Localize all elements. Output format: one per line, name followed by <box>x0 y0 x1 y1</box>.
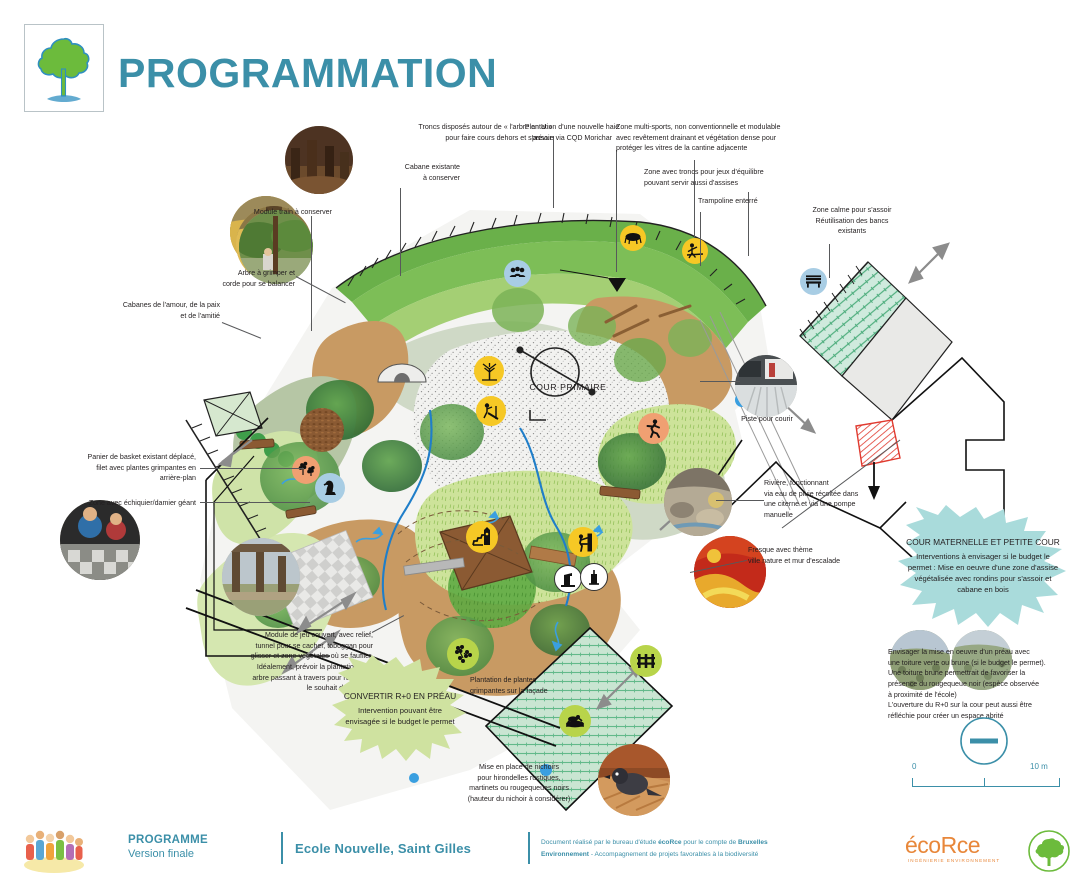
scale-bar-tick <box>984 778 985 786</box>
annotation-fresque: Fresque avec thème ville nature et mur d… <box>748 545 898 566</box>
leader-trampoline <box>700 212 701 266</box>
bench-icon <box>804 272 823 291</box>
photo-river <box>664 468 732 536</box>
marker-trampoline-icon[interactable] <box>620 225 646 251</box>
page-title: PROGRAMMATION <box>118 50 497 97</box>
footer-note-1d: Bruxelles <box>738 839 768 846</box>
footer-divider-1 <box>281 832 283 864</box>
blob-text-convertir: CONVERTIR R+0 EN PRÉAU Intervention pouv… <box>332 655 468 763</box>
annotation-nichoirs: Mise en place de nichoirs pour hirondell… <box>434 762 604 805</box>
scale-bar-line <box>912 778 1060 787</box>
scale-max-label: 10 m <box>1030 762 1048 771</box>
slide-icon <box>481 401 502 422</box>
marker-balance-icon[interactable] <box>682 238 708 264</box>
page-header: PROGRAMMATION <box>0 0 1084 118</box>
marker-play-module-icon[interactable] <box>466 521 498 553</box>
leader-riviere <box>716 500 764 501</box>
footer-programme: PROGRAMME Version finale <box>128 834 208 860</box>
annotation-troncs-equilibre: Zone avec troncs pour jeux d'équilibre p… <box>644 167 822 188</box>
trampoline-icon <box>624 229 642 247</box>
scale-min-label: 0 <box>912 762 916 771</box>
footer-note-1b: écoRce <box>658 839 681 846</box>
footer-note-2b: - Accompagnement de projets favorables à… <box>589 851 758 858</box>
tree-climb-icon <box>479 361 500 382</box>
marker-chess-icon[interactable] <box>315 473 345 503</box>
flowers-icon <box>296 460 316 480</box>
play-module-icon <box>471 526 494 549</box>
seating-group-icon <box>508 264 527 283</box>
annotation-plantes-grimpantes: Plantation de plantes grimpantes sur la … <box>470 675 598 696</box>
annotation-module-train: Module train à conserver <box>210 207 332 218</box>
annotation-arbre-grimper: Arbre à grimper et corde pour se balance… <box>150 268 295 289</box>
scale-bar: 0 10 m <box>912 762 1060 796</box>
marker-seating-icon[interactable] <box>504 260 531 287</box>
cistern-icon <box>585 568 603 586</box>
running-icon <box>643 418 664 439</box>
document-page: PROGRAMMATION <box>0 0 1084 875</box>
leader-cabane <box>400 188 401 276</box>
footer-programme-label: PROGRAMME <box>128 834 208 846</box>
page-footer: PROGRAMME Version finale Ecole Nouvelle,… <box>0 824 1084 875</box>
annotation-piste-courir: Piste pour courir <box>724 414 810 425</box>
nestbox-icon <box>564 710 586 732</box>
blob-body-convertir: Intervention pouvant être envisagée si l… <box>340 705 460 727</box>
annotation-echiquier: Zone avec échiquier/damier géant <box>36 498 196 509</box>
annotation-cabanes-amour: Cabanes de l'amour, de la paix et de l'a… <box>50 300 220 321</box>
leader-troncs <box>553 136 554 208</box>
footer-divider-2 <box>528 832 530 864</box>
ecorce-tagline: INGÉNIERIE ENVIRONNEMENT <box>908 858 1000 863</box>
footer-school-name: Ecole Nouvelle, Saint Gilles <box>295 841 471 856</box>
annotation-panier-basket: Panier de basket existant déplacé, filet… <box>36 452 196 484</box>
leader-zone-calme <box>829 244 830 278</box>
chess-icon <box>320 478 340 498</box>
ecorce-brand-text: écoRce <box>905 832 980 859</box>
footer-note-1a: Document réalisé par le bureau d'étude <box>541 839 658 846</box>
footer-ecorce-logo: écoRce INGÉNIERIE ENVIRONNEMENT <box>905 832 1075 870</box>
marker-nestbox-icon[interactable] <box>559 705 591 737</box>
marker-fence-icon[interactable] <box>630 645 662 677</box>
leader-basket <box>200 468 304 469</box>
marker-run-icon[interactable] <box>638 413 669 444</box>
balance-log-icon <box>686 242 704 260</box>
footer-version-label: Version finale <box>128 848 208 860</box>
annotation-cabane-existante: Cabane existante à conserver <box>330 162 460 183</box>
blob-leader-maternelle <box>780 430 960 530</box>
blob-body-maternelle: Interventions à envisager si le budget l… <box>906 551 1060 595</box>
photo-facade <box>735 355 797 417</box>
photo-bird <box>598 744 670 816</box>
leader-echiquier <box>200 502 310 503</box>
orientation-symbol-icon <box>958 715 1010 767</box>
marker-flowers-icon[interactable] <box>292 456 320 484</box>
footer-note: Document réalisé par le bureau d'étude é… <box>541 837 886 861</box>
marker-bench-icon[interactable] <box>800 268 827 295</box>
blob-heading-convertir: CONVERTIR R+0 EN PRÉAU <box>344 691 456 702</box>
climbing-wall-icon <box>573 532 594 553</box>
ecorce-tree-icon <box>1027 830 1071 872</box>
water-pump-icon <box>559 570 577 588</box>
marker-tree-climb-icon[interactable] <box>474 356 504 386</box>
leader-haie <box>616 150 617 272</box>
annotation-preau-toiture: Envisager la mise en oeuvre d'un préau a… <box>888 647 1084 721</box>
photo-chess <box>60 500 140 580</box>
leader-train <box>311 216 312 331</box>
tree-logo-icon <box>25 25 103 111</box>
children-illustration-icon <box>18 827 90 873</box>
zone-label-cour-primaire: COUR PRIMAIRE <box>508 381 628 394</box>
annotation-zone-multisports: Zone multi-sports, non conventionnelle e… <box>616 122 812 154</box>
marker-cistern-icon[interactable] <box>580 563 608 591</box>
footer-note-1c: pour le compte de <box>682 839 738 846</box>
marker-water-pump-icon[interactable] <box>554 565 582 593</box>
leader-piste <box>700 381 740 382</box>
fence-icon <box>635 650 657 672</box>
blob-convertir-preau: CONVERTIR R+0 EN PRÉAU Intervention pouv… <box>332 655 468 763</box>
blob-heading-maternelle: COUR MATERNELLE ET PETITE COUR <box>906 537 1060 548</box>
logo-frame <box>24 24 104 112</box>
woodchip-area <box>300 408 344 452</box>
footer-note-2a: Environnement <box>541 851 589 858</box>
annotation-zone-calme: Zone calme pour s'assoir Réutilisation d… <box>786 205 918 237</box>
marker-slide-icon[interactable] <box>476 396 506 426</box>
marker-climbwall-icon[interactable] <box>568 527 598 557</box>
photo-playmod <box>222 538 300 616</box>
